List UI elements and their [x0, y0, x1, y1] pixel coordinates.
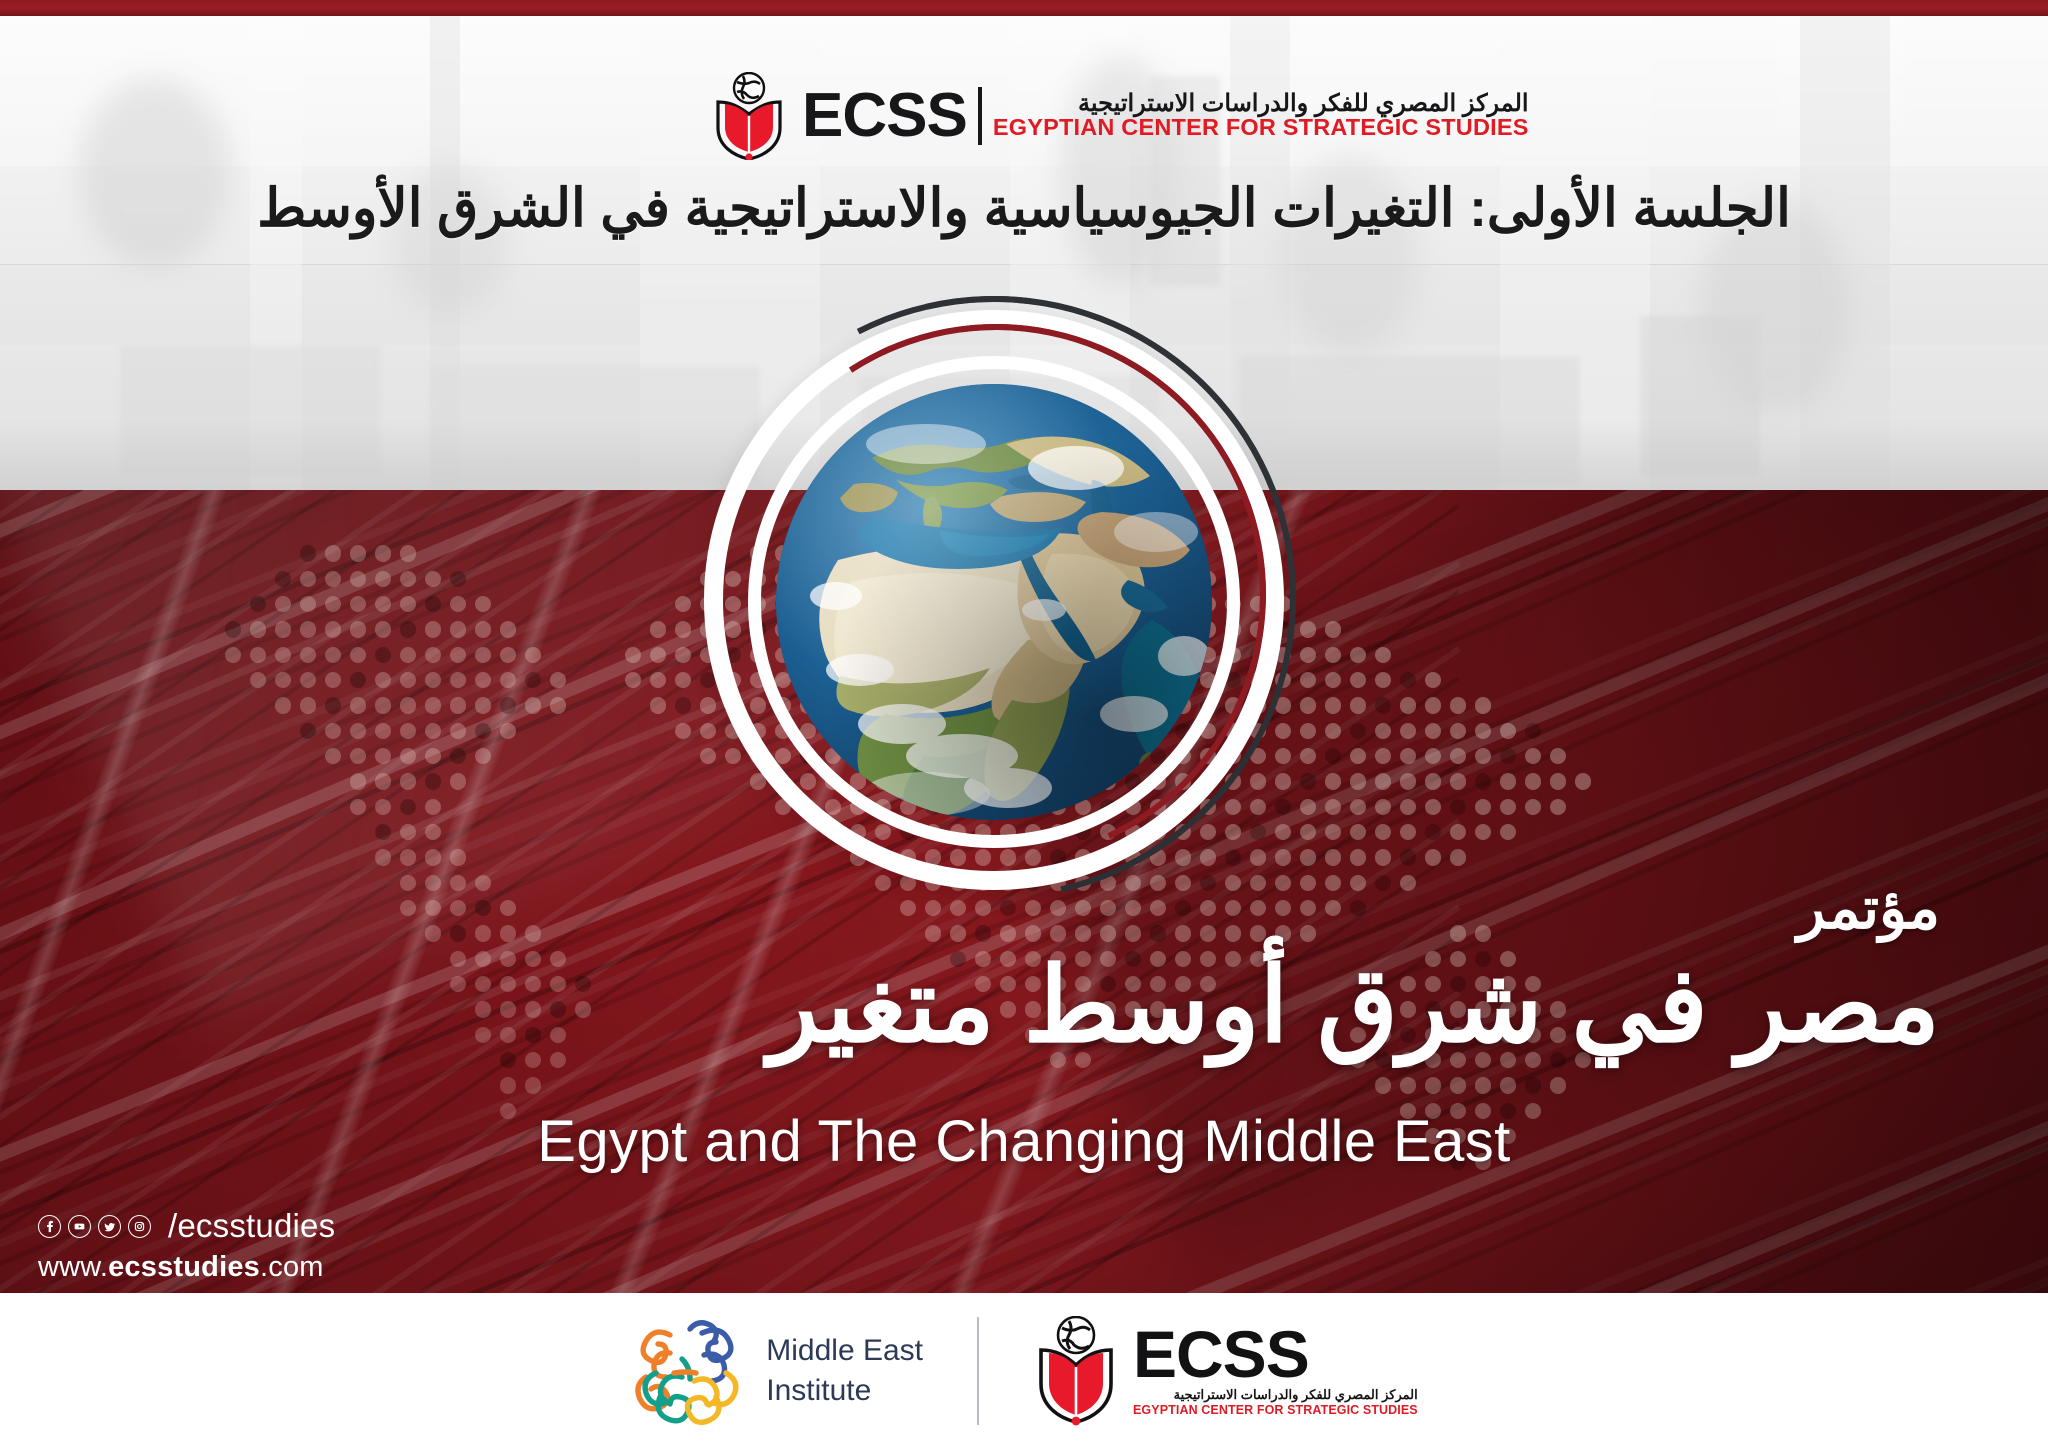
ecss-globe-shield-icon: [1033, 1316, 1119, 1426]
conference-kicker: مؤتمر: [769, 880, 1940, 938]
globe-shading: [776, 384, 1212, 820]
middle-east-institute-logo: Middle East Institute: [630, 1315, 923, 1427]
url-name: ecsstudies: [108, 1251, 260, 1283]
footer-logo-bar: Middle East Institute ECSS المركز المصري…: [0, 1293, 2048, 1449]
conference-title-block: مؤتمر مصر في شرق أوسط متغير: [769, 880, 1940, 1067]
top-accent-rule: [0, 0, 2048, 16]
footer-ecss-wordmark: ECSS: [1133, 1325, 1418, 1383]
logo-divider: [978, 87, 982, 145]
facebook-icon[interactable]: [38, 1215, 61, 1238]
url-suffix: .com: [260, 1251, 324, 1283]
youtube-icon[interactable]: [68, 1215, 91, 1238]
conference-title-arabic: مصر في شرق أوسط متغير: [769, 946, 1940, 1067]
footer-ecss-logo: ECSS المركز المصري للفكر والدراسات الاست…: [1033, 1316, 1418, 1426]
social-block: /ecsstudies www.ecsstudies.com: [38, 1207, 335, 1284]
url-prefix: www.: [38, 1251, 108, 1283]
mei-line-1: Middle East: [766, 1331, 923, 1371]
conference-title-english: Egypt and The Changing Middle East: [0, 1108, 2048, 1175]
ecss-arabic-name: المركز المصري للفكر والدراسات الاستراتيج…: [993, 92, 1529, 116]
middle-east-institute-name: Middle East Institute: [766, 1331, 923, 1410]
instagram-icon[interactable]: [128, 1215, 151, 1238]
conference-poster: ECSS المركز المصري للفكر والدراسات الاست…: [0, 0, 2048, 1449]
ecss-globe-shield-icon: [710, 72, 788, 160]
ecss-wordmark: ECSS: [802, 87, 967, 144]
twitter-icon[interactable]: [98, 1215, 121, 1238]
earth-globe-africa-middle-east: [776, 384, 1212, 820]
mei-line-2: Institute: [766, 1371, 923, 1411]
social-handle: /ecsstudies: [168, 1207, 335, 1245]
footer-ecss-english-name: EGYPTIAN CENTER FOR STRATEGIC STUDIES: [1133, 1403, 1418, 1417]
website-url: www.ecsstudies.com: [38, 1251, 335, 1284]
middle-east-institute-spiral-icon: [630, 1315, 746, 1427]
globe-graphic: [684, 290, 1344, 910]
ecss-english-name: EGYPTIAN CENTER FOR STRATEGIC STUDIES: [993, 116, 1529, 140]
session-title: الجلسة الأولى: التغيرات الجيوسياسية والا…: [0, 178, 2048, 239]
footer-ecss-arabic-name: المركز المصري للفكر والدراسات الاستراتيج…: [1133, 1387, 1418, 1403]
header-logo: ECSS المركز المصري للفكر والدراسات الاست…: [710, 70, 1350, 162]
footer-divider: [977, 1317, 979, 1425]
